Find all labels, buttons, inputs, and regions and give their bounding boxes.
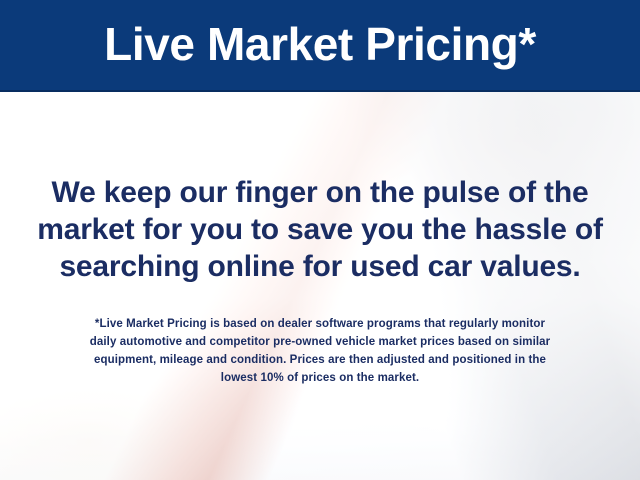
disclaimer-line-1: *Live Market Pricing is based on dealer … — [38, 315, 602, 333]
disclaimer-text: *Live Market Pricing is based on dealer … — [0, 285, 640, 387]
disclaimer-line-4: lowest 10% of prices on the market. — [38, 369, 602, 387]
disclaimer-line-2: daily automotive and competitor pre-owne… — [38, 333, 602, 351]
banner-content: We keep our finger on the pulse of the m… — [0, 0, 640, 480]
headline-line-1: We keep our finger on the pulse of the — [28, 174, 612, 211]
disclaimer-line-3: equipment, mileage and condition. Prices… — [38, 351, 602, 369]
headline-line-2: market for you to save you the hassle of — [28, 211, 612, 248]
headline-line-3: searching online for used car values. — [28, 248, 612, 285]
live-market-pricing-banner: Live Market Pricing* We keep our finger … — [0, 0, 640, 480]
headline-text: We keep our finger on the pulse of the m… — [0, 92, 640, 285]
